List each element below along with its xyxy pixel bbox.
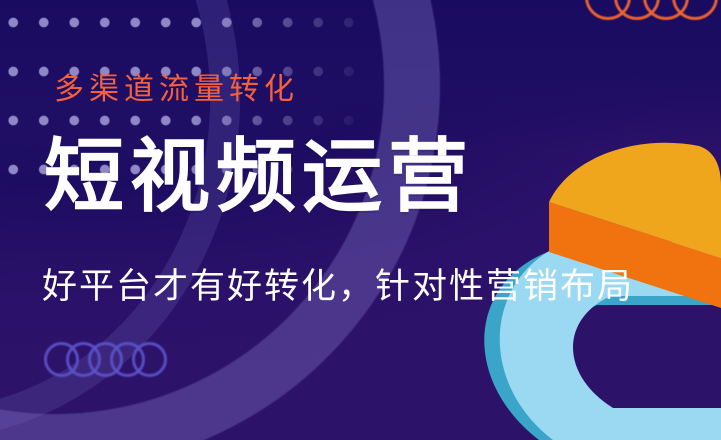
blue-rings-decoration (44, 340, 224, 384)
banner-subtitle: 好平台才有好转化，针对性营销布局 (42, 258, 634, 309)
ring-icon (132, 342, 167, 377)
banner-title: 短视频运营 (44, 137, 474, 217)
ring-icon (672, 0, 718, 20)
banner-kicker: 多渠道流量转化 (54, 64, 299, 108)
promo-banner: 多渠道流量转化 短视频运营 好平台才有好转化，针对性营销布局 (0, 0, 721, 440)
orange-rings-decoration (585, 0, 721, 34)
